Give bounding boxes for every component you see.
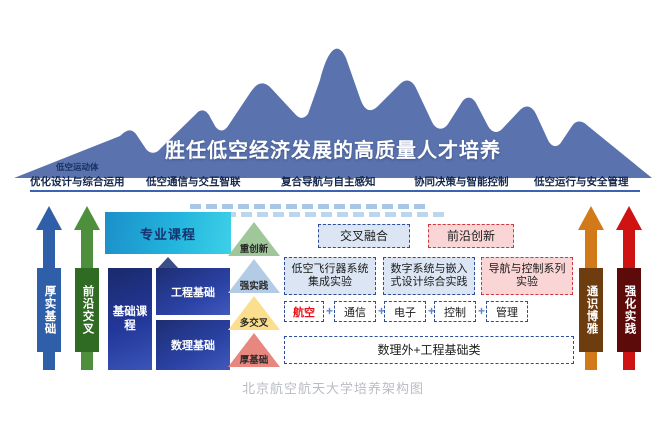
banner-sub-note: 低空运动体 xyxy=(56,161,99,173)
tier-2: 多交叉 xyxy=(228,296,280,330)
major-course-box: 专业课程 xyxy=(105,212,231,254)
tier-label-3: 厚基础 xyxy=(228,352,280,366)
discipline-tag-1: 通信 xyxy=(334,301,376,322)
tier-label-0: 重创新 xyxy=(228,241,280,255)
tier-3: 厚基础 xyxy=(228,333,280,367)
engineering-base-box: 工程基础 xyxy=(156,268,230,315)
innovation-box-0: 交叉融合 xyxy=(318,224,410,248)
practice-box-2: 导航与控制系列实验 xyxy=(481,257,573,295)
foundation-box: 数理外+工程基础类 xyxy=(284,336,574,364)
discipline-tag-3: 控制 xyxy=(434,301,476,322)
arrow-head-icon xyxy=(616,206,642,230)
arrow-head-icon xyxy=(74,206,100,230)
pillar-label-3: 协同决策与智能控制 xyxy=(414,174,509,189)
banner-title: 胜任低空经济发展的高质量人才培养 xyxy=(0,134,666,163)
discipline-separator-3: + xyxy=(478,304,485,318)
right-arrow-label-0: 通识博雅 xyxy=(579,268,603,352)
practice-box-0: 低空飞行器系统集成实验 xyxy=(284,257,376,295)
dashed-strip-upper xyxy=(190,196,430,201)
figure-caption: 北京航空航天大学培养架构图 xyxy=(0,378,666,397)
arrow-head-icon xyxy=(36,206,62,230)
pillar-label-0: 优化设计与综合运用 xyxy=(30,174,125,189)
pillar-label-2: 复合导航与自主感知 xyxy=(281,174,376,189)
tier-label-2: 多交叉 xyxy=(228,315,280,329)
right-arrow-1: 强化实践 xyxy=(616,206,642,370)
math-base-box: 数理基础 xyxy=(156,320,230,370)
dashed-strip-lower xyxy=(225,204,449,209)
discipline-tag-4: 管理 xyxy=(486,301,528,322)
right-arrow-0: 通识博雅 xyxy=(578,206,604,370)
left-arrow-label-0: 厚实基础 xyxy=(37,268,61,352)
banner-rule xyxy=(30,190,640,192)
discipline-separator-0: + xyxy=(326,304,333,318)
diagram-canvas: 胜任低空经济发展的高质量人才培养 低空运动体 优化设计与综合运用低空通信与交互智… xyxy=(0,0,666,444)
discipline-tag-0: 航空 xyxy=(284,301,324,322)
pillar-label-4: 低空运行与安全管理 xyxy=(534,174,629,189)
left-arrow-label-1: 前沿交叉 xyxy=(75,268,99,352)
pillar-label-1: 低空通信与交互智联 xyxy=(146,174,241,189)
innovation-box-1: 前沿创新 xyxy=(428,224,514,248)
left-arrow-1: 前沿交叉 xyxy=(74,206,100,370)
left-arrow-0: 厚实基础 xyxy=(36,206,62,370)
tier-label-1: 强实践 xyxy=(228,278,280,292)
discipline-tag-2: 电子 xyxy=(384,301,426,322)
arrow-head-icon xyxy=(578,206,604,230)
base-course-box: 基础课程 xyxy=(108,268,152,370)
practice-box-1: 数字系统与嵌入式设计综合实践 xyxy=(383,257,475,295)
pillar-row: 优化设计与综合运用低空通信与交互智联复合导航与自主感知协同决策与智能控制低空运行… xyxy=(0,174,666,190)
right-arrow-label-1: 强化实践 xyxy=(617,268,641,352)
tier-1: 强实践 xyxy=(228,259,280,293)
tier-0: 重创新 xyxy=(228,222,280,256)
